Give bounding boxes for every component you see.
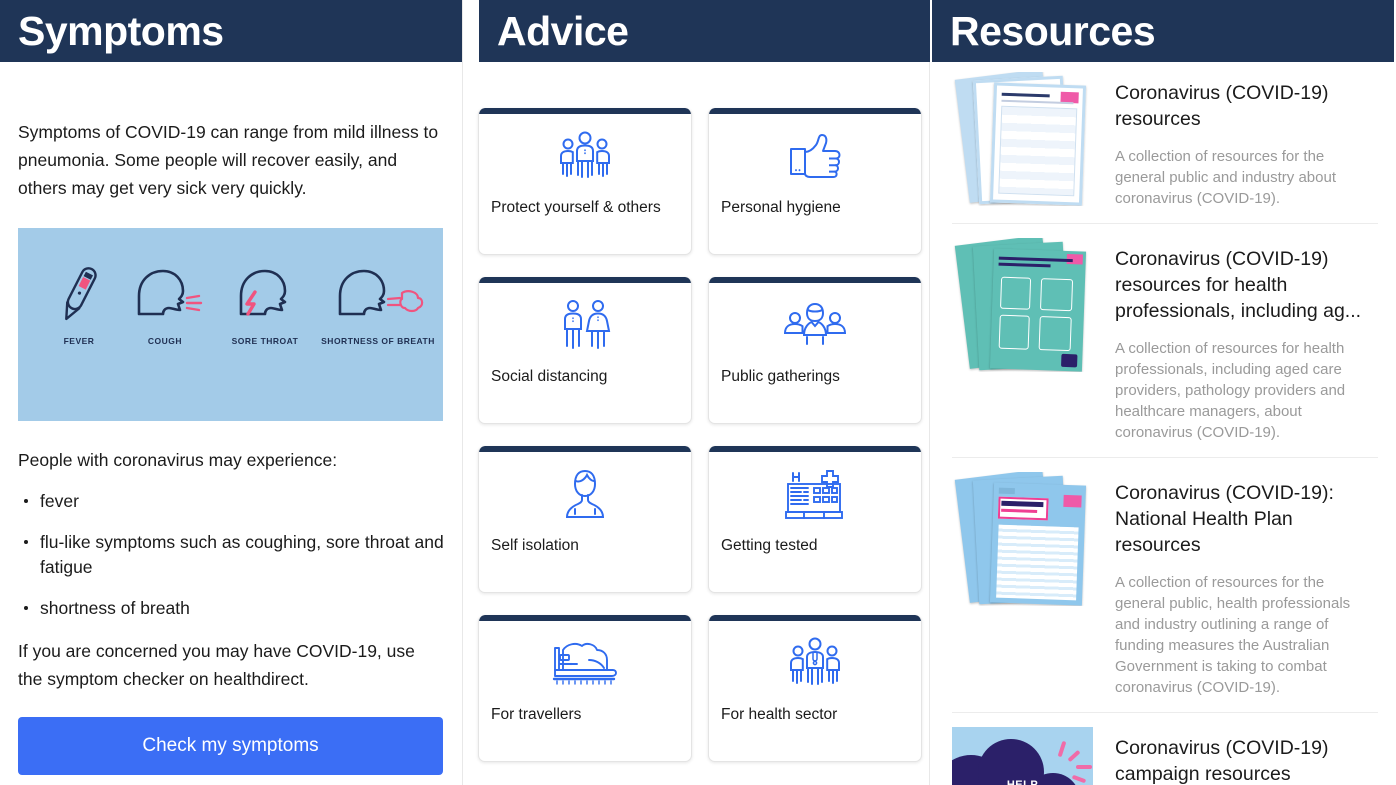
illustration-caption: SORE THROAT xyxy=(210,336,320,347)
resource-title: Coronavirus (COVID-19) resources xyxy=(1115,80,1378,132)
single-person-bust-icon xyxy=(479,452,691,536)
symptoms-bullet-list: fever flu-like symptoms such as coughing… xyxy=(18,489,444,621)
check-my-symptoms-button[interactable]: Check my symptoms xyxy=(18,717,443,775)
resource-title: Coronavirus (COVID-19): National Health … xyxy=(1115,480,1378,558)
advice-card-grid: Protect yourself & others Personal hygie… xyxy=(478,108,929,762)
illustration-item-cough: COUGH xyxy=(110,256,220,347)
advice-header: Advice xyxy=(479,0,930,62)
symptoms-body: Symptoms of COVID-19 can range from mild… xyxy=(0,118,462,775)
advice-card-label: Social distancing xyxy=(479,367,691,386)
stacked-fact-sheets-sky-thumbnail xyxy=(952,472,1093,606)
advice-card-getting-tested[interactable]: Getting tested xyxy=(708,446,922,593)
advice-card-label: Getting tested xyxy=(709,536,921,555)
advice-card-public-gatherings[interactable]: Public gatherings xyxy=(708,277,922,424)
crowd-group-icon xyxy=(709,283,921,367)
advice-card-label: For travellers xyxy=(479,705,691,724)
resource-text: Coronavirus (COVID-19) resources A colle… xyxy=(1115,72,1378,209)
resource-description: A collection of resources for health pro… xyxy=(1115,338,1378,443)
advice-card-for-travellers[interactable]: For travellers xyxy=(478,615,692,762)
advice-card-personal-hygiene[interactable]: Personal hygiene xyxy=(708,108,922,255)
stacked-fact-sheets-blue-thumbnail xyxy=(952,72,1093,206)
resource-text: Coronavirus (COVID-19) campaign resource… xyxy=(1115,727,1378,785)
resource-description: A collection of resources for the genera… xyxy=(1115,572,1378,698)
health-workers-icon xyxy=(709,621,921,705)
symptoms-lead-text: People with coronavirus may experience: xyxy=(18,447,444,473)
campaign-line-1: HELP xyxy=(952,779,1093,785)
advice-card-for-health-sector[interactable]: For health sector xyxy=(708,615,922,762)
hospital-icon xyxy=(709,452,921,536)
advice-card-self-isolation[interactable]: Self isolation xyxy=(478,446,692,593)
advice-card-label: Public gatherings xyxy=(709,367,921,386)
symptoms-title: Symptoms xyxy=(18,11,224,52)
train-icon xyxy=(479,621,691,705)
advice-card-label: Protect yourself & others xyxy=(479,198,691,217)
symptoms-column: Symptoms Symptoms of COVID-19 can range … xyxy=(0,0,462,785)
list-item[interactable]: Coronavirus (COVID-19) resources for hea… xyxy=(952,224,1378,458)
advice-card-social-distancing[interactable]: Social distancing xyxy=(478,277,692,424)
list-item[interactable]: HELP STOP SPREAD Coronavirus (COVID-19) … xyxy=(952,713,1378,785)
advice-card-label: Personal hygiene xyxy=(709,198,921,217)
illustration-caption: SHORTNESS OF BREATH xyxy=(318,336,438,347)
head-sore-throat-icon xyxy=(210,256,320,326)
list-item: fever xyxy=(18,489,444,514)
list-item[interactable]: Coronavirus (COVID-19): National Health … xyxy=(952,458,1378,713)
advice-title: Advice xyxy=(497,11,628,52)
illustration-item-sore-throat: SORE THROAT xyxy=(210,256,320,347)
advice-card-label: Self isolation xyxy=(479,536,691,555)
advice-card-label: For health sector xyxy=(709,705,921,724)
head-shortness-of-breath-icon xyxy=(318,256,438,326)
resources-title: Resources xyxy=(950,11,1155,52)
illustration-caption: COUGH xyxy=(110,336,220,347)
symptoms-footer-text: If you are concerned you may have COVID-… xyxy=(18,637,444,693)
three-people-icon xyxy=(479,114,691,198)
help-stop-the-spread-campaign-thumbnail: HELP STOP SPREAD xyxy=(952,727,1093,785)
three-column-covid-page: Symptoms Symptoms of COVID-19 can range … xyxy=(0,0,1396,785)
advice-column: Advice xyxy=(462,0,930,785)
symptoms-header: Symptoms xyxy=(0,0,462,62)
advice-card-protect-yourself-and-others[interactable]: Protect yourself & others xyxy=(478,108,692,255)
resource-title: Coronavirus (COVID-19) campaign resource… xyxy=(1115,735,1378,785)
illustration-item-shortness-of-breath: SHORTNESS OF BREATH xyxy=(318,256,438,347)
resources-column: Resources Coronavirus (COVID-19) resourc… xyxy=(930,0,1394,785)
resource-text: Coronavirus (COVID-19) resources for hea… xyxy=(1115,238,1378,443)
stacked-posters-teal-thumbnail xyxy=(952,238,1093,372)
head-cough-icon xyxy=(110,256,220,326)
list-item: shortness of breath xyxy=(18,596,444,621)
resource-title: Coronavirus (COVID-19) resources for hea… xyxy=(1115,246,1378,324)
list-item[interactable]: Coronavirus (COVID-19) resources A colle… xyxy=(952,62,1378,224)
symptoms-intro-text: Symptoms of COVID-19 can range from mild… xyxy=(18,118,444,202)
list-item: flu-like symptoms such as coughing, sore… xyxy=(18,530,444,580)
thumbs-up-icon xyxy=(709,114,921,198)
resources-header: Resources xyxy=(932,0,1394,62)
two-people-apart-icon xyxy=(479,283,691,367)
symptoms-illustration: FEVER COUGH xyxy=(18,228,443,421)
resources-list: Coronavirus (COVID-19) resources A colle… xyxy=(930,62,1394,785)
resource-description: A collection of resources for the genera… xyxy=(1115,146,1378,209)
campaign-artwork: HELP STOP SPREAD xyxy=(952,727,1093,785)
resource-text: Coronavirus (COVID-19): National Health … xyxy=(1115,472,1378,698)
